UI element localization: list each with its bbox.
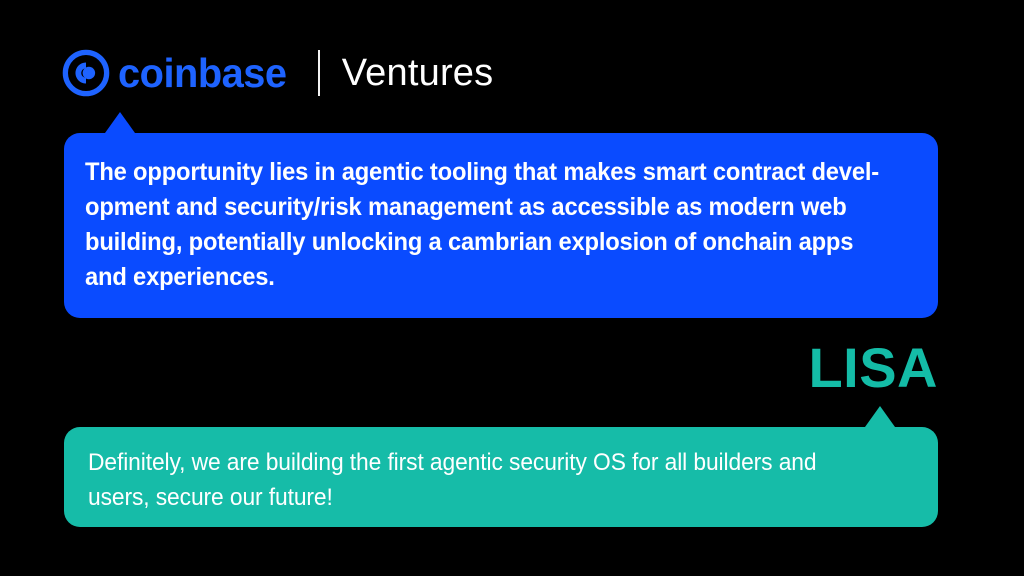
answer-bubble-tail (865, 406, 895, 427)
answer-line: users, secure our future! (88, 480, 896, 515)
speaker-name: LISA (808, 340, 938, 396)
quote-card: coinbase Ventures The opportunity lies i… (0, 0, 1024, 576)
coinbase-logo-icon (62, 49, 110, 97)
coinbase-ventures-lockup: coinbase Ventures (62, 42, 493, 104)
question-bubble-tail (105, 112, 135, 133)
question-line: The opportunity lies in agentic tooling … (85, 155, 896, 190)
answer-speech-bubble: Definitely, we are building the first ag… (64, 427, 938, 527)
ventures-wordmark: Ventures (342, 54, 494, 92)
answer-line: Definitely, we are building the first ag… (88, 445, 896, 480)
question-speech-bubble: The opportunity lies in agentic tooling … (64, 133, 938, 318)
answer-text: Definitely, we are building the first ag… (88, 445, 896, 515)
question-line: and experiences. (85, 260, 896, 295)
question-line: building, potentially unlocking a cambri… (85, 225, 896, 260)
question-line: opment and security/risk management as a… (85, 190, 896, 225)
question-text: The opportunity lies in agentic tooling … (85, 155, 896, 295)
coinbase-wordmark: coinbase (118, 53, 287, 94)
lockup-divider (318, 50, 320, 96)
